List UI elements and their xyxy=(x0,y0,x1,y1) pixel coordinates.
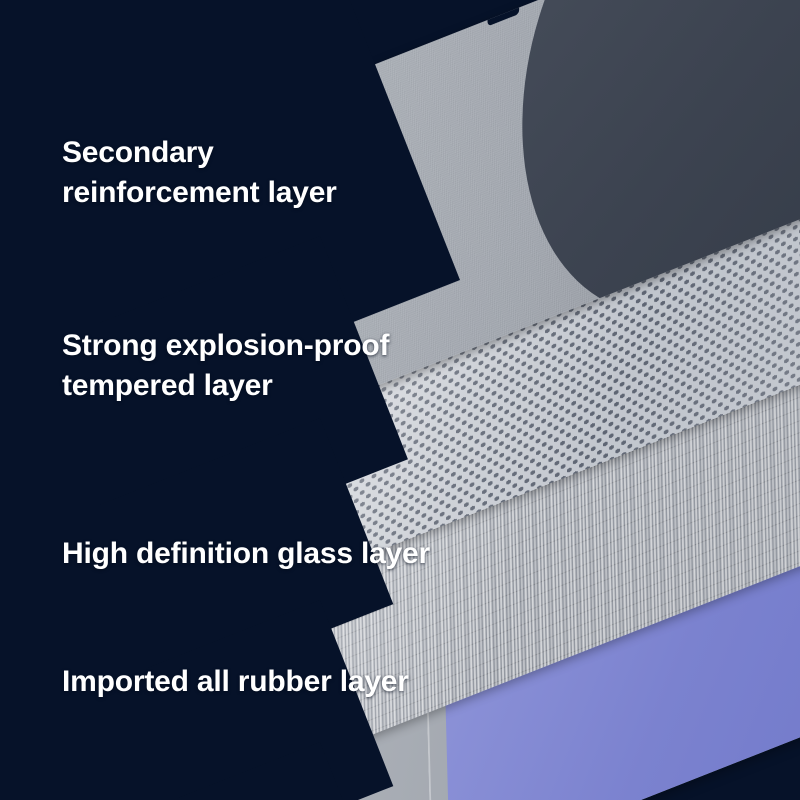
label-secondary-reinforcement: Secondary reinforcement layer xyxy=(62,133,337,212)
label-group: Secondary reinforcement layer Strong exp… xyxy=(0,0,800,800)
product-illustration: Secondary reinforcement layer Strong exp… xyxy=(0,0,800,800)
label-hd-glass: High definition glass layer xyxy=(62,534,430,574)
label-tempered: Strong explosion-proof tempered layer xyxy=(62,326,389,405)
label-rubber: Imported all rubber layer xyxy=(62,662,409,702)
